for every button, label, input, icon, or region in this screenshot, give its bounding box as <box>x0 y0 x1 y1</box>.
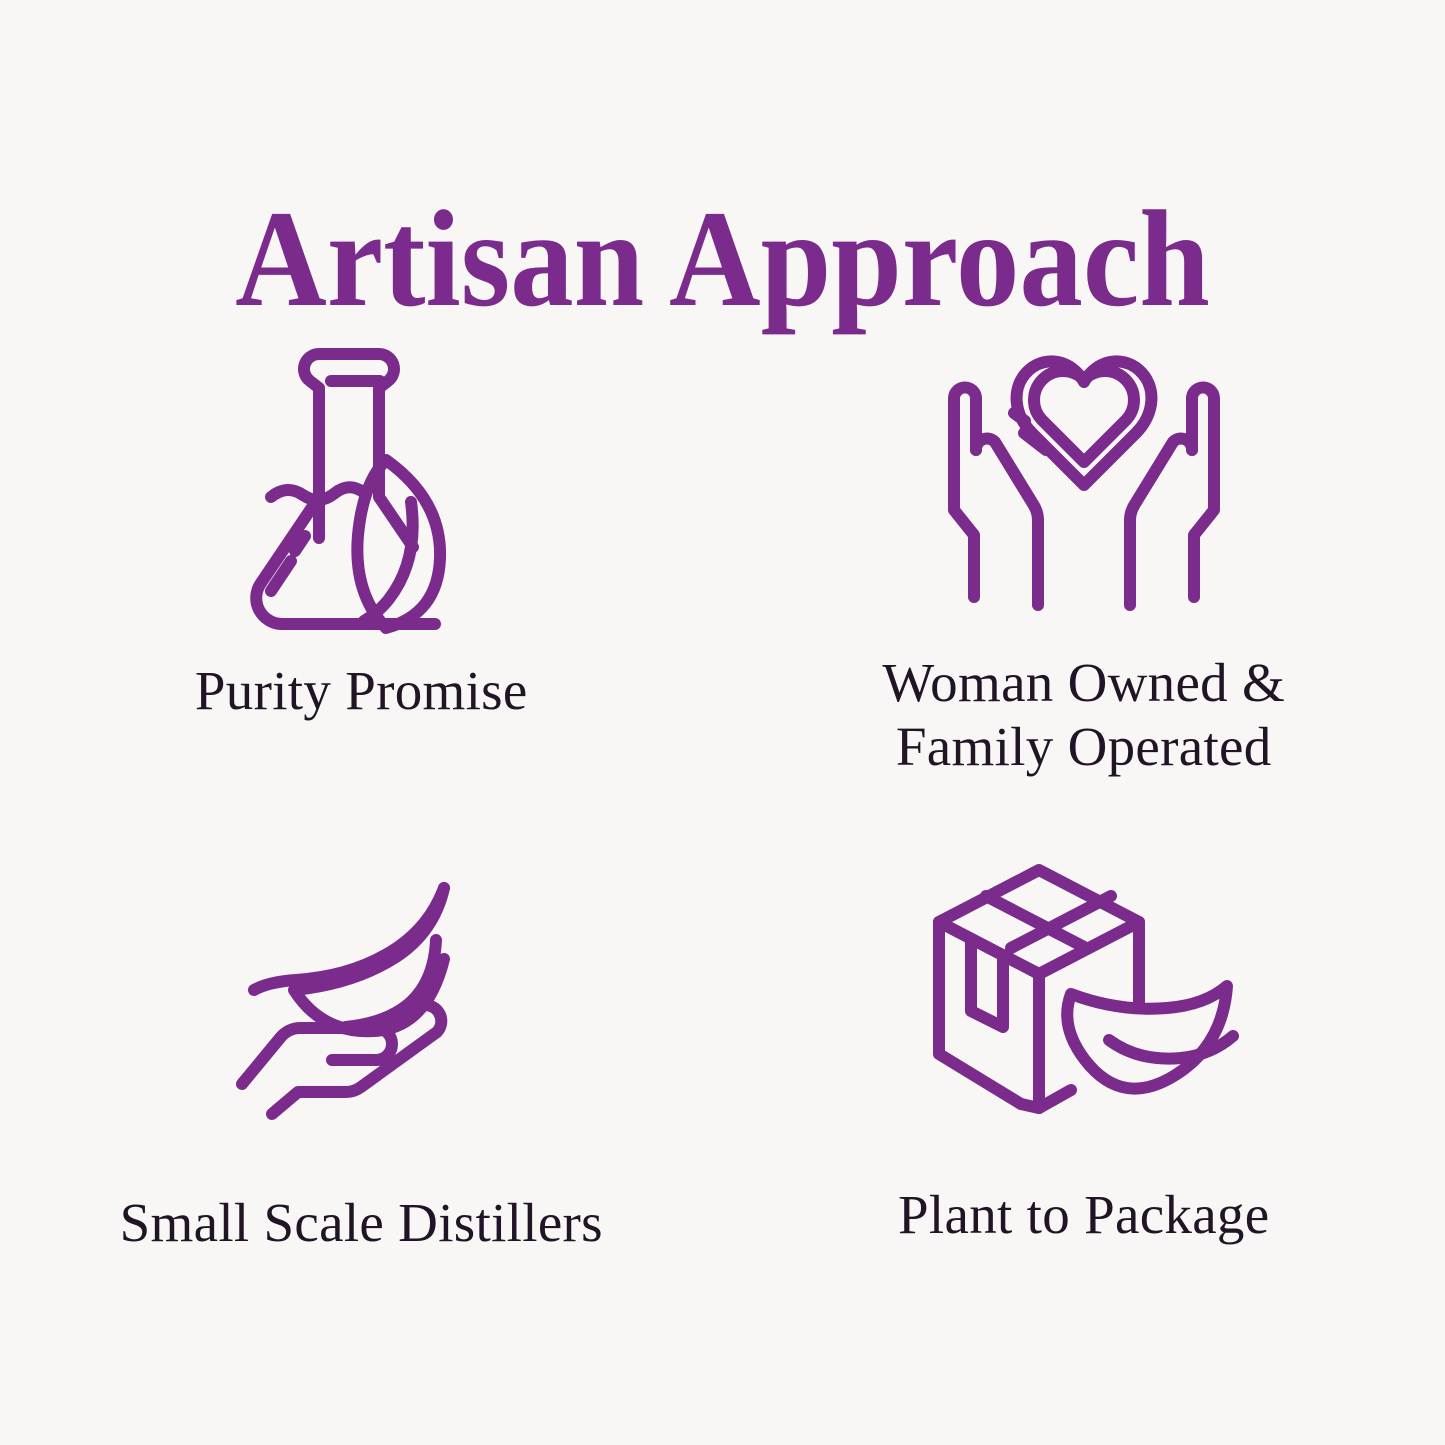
feature-item-small-scale-distillers: Small Scale Distillers <box>0 835 723 1335</box>
feature-grid: Purity Promise <box>0 335 1445 1335</box>
page-title: Artisan Approach <box>58 190 1387 328</box>
flask-leaf-icon <box>0 335 723 635</box>
feature-label: Purity Promise <box>195 659 528 723</box>
hands-heart-icon <box>723 335 1445 635</box>
artisan-approach-poster: Artisan Approach <box>0 0 1445 1445</box>
feature-label: Plant to Package <box>898 1183 1269 1247</box>
feature-label: Woman Owned & Family Operated <box>882 651 1285 779</box>
feature-label: Small Scale Distillers <box>120 1191 603 1255</box>
feature-item-plant-to-package: Plant to Package <box>723 835 1445 1335</box>
box-leaf-icon <box>723 835 1445 1135</box>
feature-item-purity-promise: Purity Promise <box>0 335 723 835</box>
feature-item-woman-owned: Woman Owned & Family Operated <box>723 335 1445 835</box>
leaf-in-hand-icon <box>0 835 723 1143</box>
